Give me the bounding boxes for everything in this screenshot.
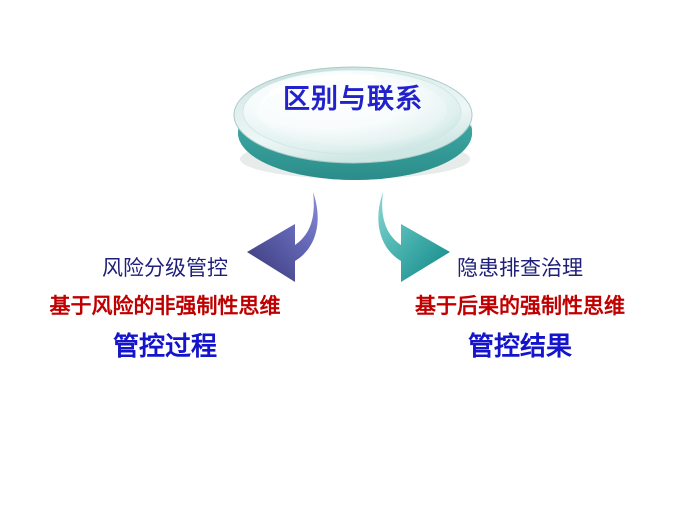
column-right: 隐患排查治理 基于后果的强制性思维 管控结果 (370, 258, 670, 360)
column-right-subtitle: 基于后果的强制性思维 (370, 296, 670, 317)
center-node[interactable]: 区别与联系 (232, 55, 474, 180)
slide-canvas: 区别与联系 (0, 0, 700, 525)
column-right-title: 隐患排查治理 (370, 258, 670, 279)
column-left-subtitle: 基于风险的非强制性思维 (15, 296, 315, 317)
column-left: 风险分级管控 基于风险的非强制性思维 管控过程 (15, 258, 315, 360)
column-left-result: 管控过程 (15, 334, 315, 360)
column-right-result: 管控结果 (370, 334, 670, 360)
column-left-title: 风险分级管控 (15, 258, 315, 279)
disc-shape-icon (232, 55, 474, 180)
center-node-label: 区别与联系 (232, 85, 474, 115)
